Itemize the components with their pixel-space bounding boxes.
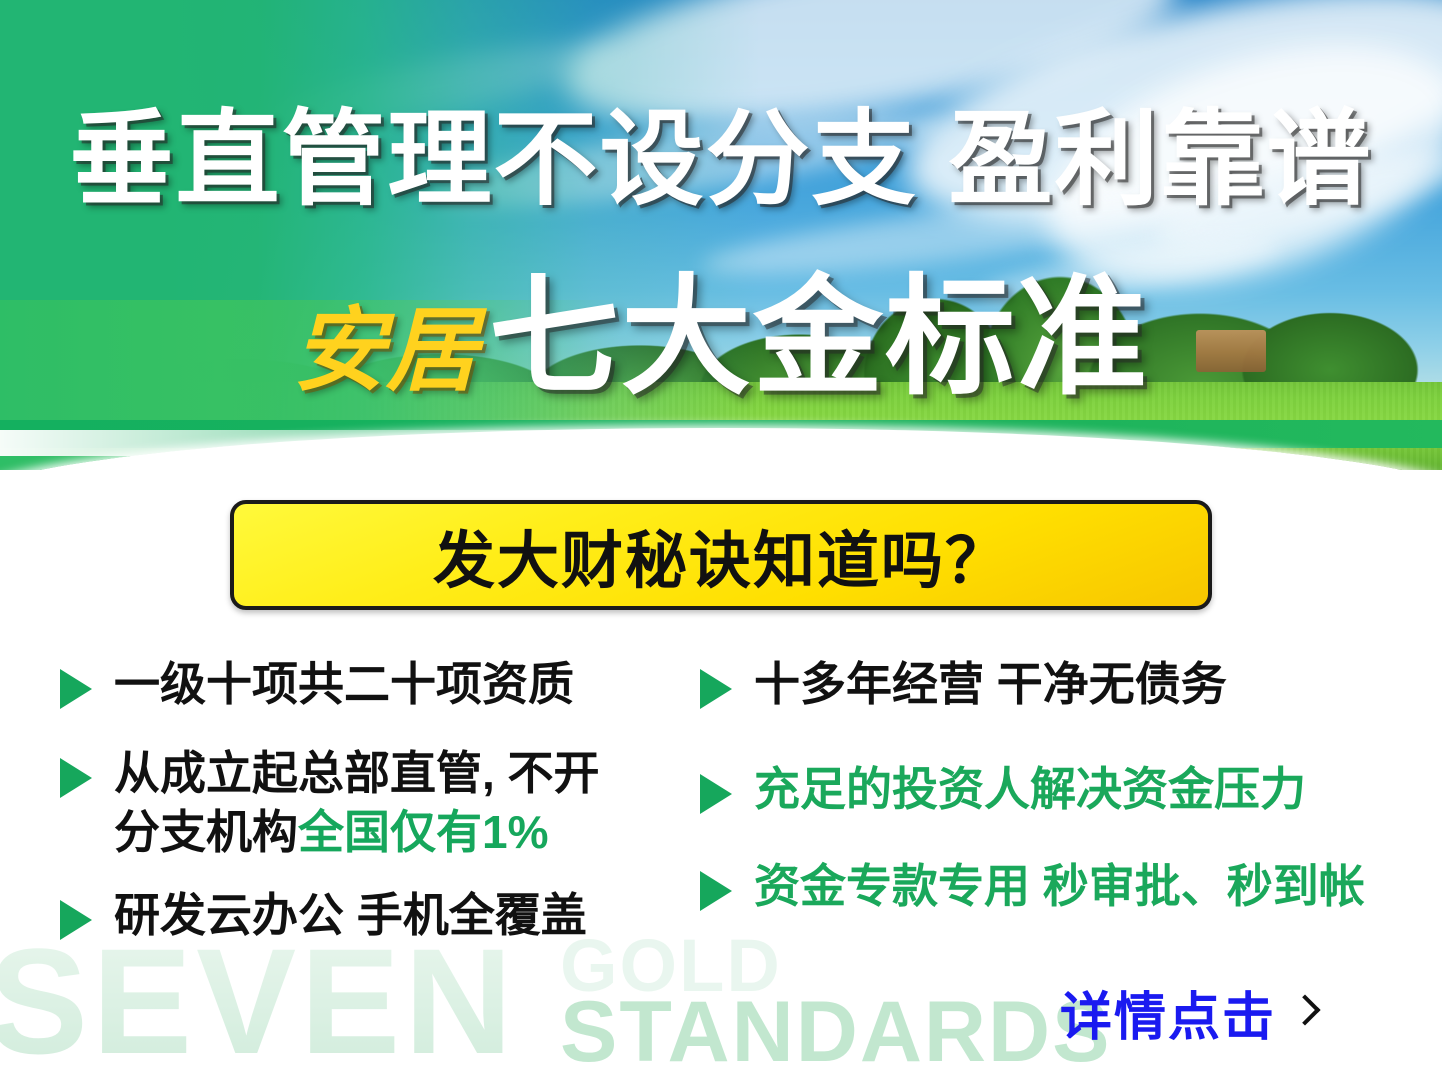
hero-section: 垂直管理不设分支 盈利靠谱 安居七大金标准: [0, 0, 1442, 470]
feature-text: 资金专款专用 秒审批、秒到帐: [754, 857, 1365, 916]
feature-text: 充足的投资人解决资金压力: [754, 760, 1306, 819]
highlight-banner[interactable]: 发大财秘诀知道吗？: [230, 500, 1212, 610]
details-cta-label: 详情点击: [1060, 975, 1276, 1050]
feature-text-highlight: 全国仅有1%: [298, 806, 548, 858]
features-column-right: 十多年经营 干净无债务 充足的投资人解决资金压力 资金专款专用 秒审批、秒到帐: [700, 655, 1400, 934]
triangle-bullet-icon: [60, 900, 92, 940]
feature-item: 研发云办公 手机全覆盖: [60, 886, 700, 945]
feature-text: 十多年经营 干净无债务: [754, 655, 1227, 714]
feature-text: 从成立起总部直管, 不开分支机构全国仅有1%: [114, 744, 600, 862]
feature-item: 从成立起总部直管, 不开分支机构全国仅有1%: [60, 744, 700, 862]
details-cta-link[interactable]: 详情点击: [1060, 975, 1316, 1050]
hero-subheadline: 七大金标准: [489, 272, 1149, 402]
feature-item: 充足的投资人解决资金压力: [700, 760, 1400, 819]
hero-headline: 垂直管理不设分支 盈利靠谱: [0, 108, 1442, 212]
brand-name: 安居: [293, 305, 479, 397]
highlight-banner-text: 发大财秘诀知道吗？: [433, 510, 1009, 600]
chevron-right-icon: [1289, 994, 1320, 1025]
triangle-bullet-icon: [700, 871, 732, 911]
feature-text: 一级十项共二十项资质: [114, 655, 574, 714]
features-section: 一级十项共二十项资质 从成立起总部直管, 不开分支机构全国仅有1% 研发云办公 …: [0, 655, 1442, 995]
promo-banner-page: 垂直管理不设分支 盈利靠谱 安居七大金标准 发大财秘诀知道吗？ SEVEN GO…: [0, 0, 1442, 1066]
watermark-standards: STANDARDS: [560, 983, 1112, 1066]
triangle-bullet-icon: [700, 774, 732, 814]
feature-item: 资金专款专用 秒审批、秒到帐: [700, 857, 1400, 916]
feature-text-line1: 从成立起总部直管, 不开: [114, 747, 600, 799]
hero-subheadline-row: 安居七大金标准: [0, 272, 1442, 402]
features-column-left: 一级十项共二十项资质 从成立起总部直管, 不开分支机构全国仅有1% 研发云办公 …: [60, 655, 700, 963]
triangle-bullet-icon: [700, 669, 732, 709]
feature-text: 研发云办公 手机全覆盖: [114, 886, 587, 945]
feature-item: 一级十项共二十项资质: [60, 655, 700, 714]
triangle-bullet-icon: [60, 669, 92, 709]
feature-item: 十多年经营 干净无债务: [700, 655, 1400, 714]
feature-text-line2: 分支机构: [114, 806, 298, 858]
triangle-bullet-icon: [60, 758, 92, 798]
